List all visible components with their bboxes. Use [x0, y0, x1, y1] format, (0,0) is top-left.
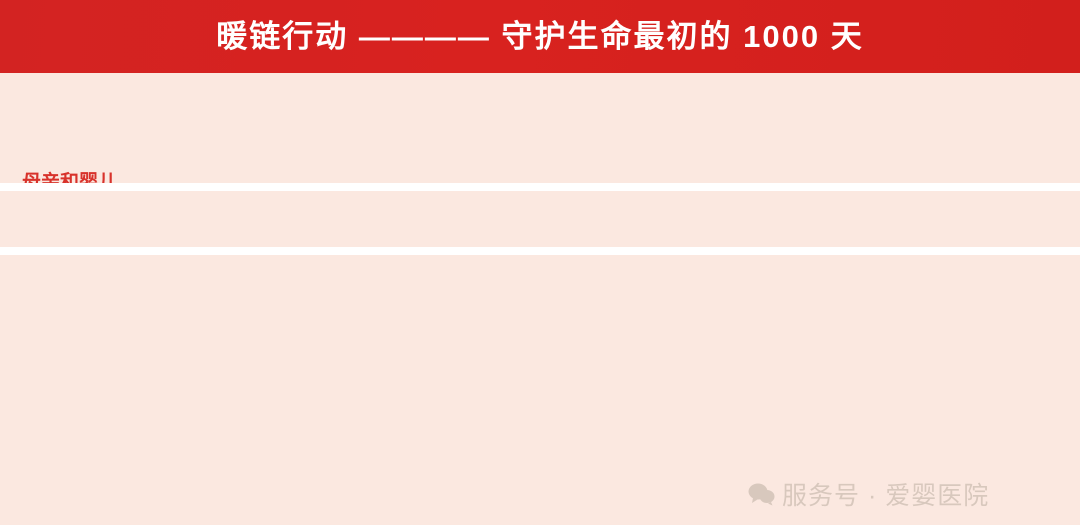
- timeline-section: 母亲和婴儿 的时间轴 孕期 宝宝 2 岁: [0, 73, 1080, 183]
- page-title: 暖链行动 ———— 守护生命最初的 1000 天: [216, 21, 863, 52]
- divider-2: [0, 247, 1080, 255]
- roles-section: 角 色 政策制定者倡导者专家学者营养学家/营养师育婴师医疗保健管理人员父亲/伴侣…: [0, 255, 1080, 525]
- poster-banner: 暖链行动 ———— 守护生命最初的 1000 天: [0, 0, 1080, 73]
- divider-1: [0, 183, 1080, 191]
- infographic-poster: 暖链行动 ———— 守护生命最初的 1000 天 母亲和婴儿 的时间轴 孕期 宝…: [0, 0, 1080, 525]
- stage-section: 阶 段 产前 分娩&产后保健 产后支持: [0, 191, 1080, 247]
